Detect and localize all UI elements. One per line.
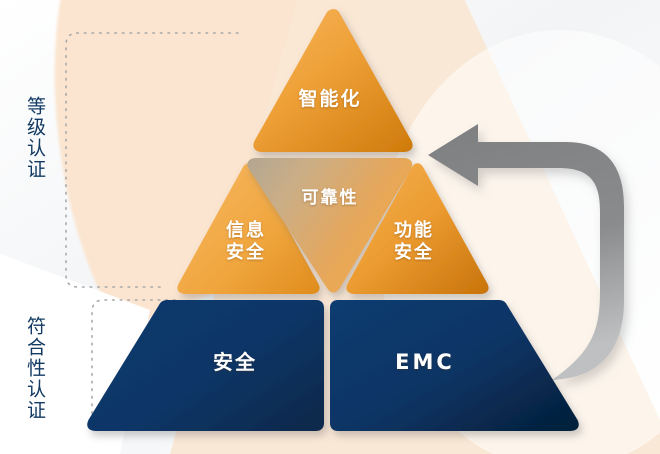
pyramid-block-safety-shape bbox=[87, 300, 324, 431]
pyramid-block-intelligent[interactable] bbox=[253, 9, 412, 152]
diagram-canvas: 等级认证 符合性认证 智能化 信息 安全 可靠性 功能 安全 安全 EMC bbox=[0, 0, 660, 454]
pyramid-block-intelligent-shape bbox=[253, 9, 412, 152]
pyramid-layer bbox=[0, 0, 660, 454]
pyramid-block-emc-shape bbox=[330, 300, 579, 431]
pyramid-block-emc[interactable] bbox=[330, 300, 579, 431]
side-label-level: 等级认证 bbox=[24, 96, 44, 180]
pyramid-block-safety[interactable] bbox=[87, 300, 324, 431]
side-label-compliance: 符合性认证 bbox=[24, 316, 44, 421]
